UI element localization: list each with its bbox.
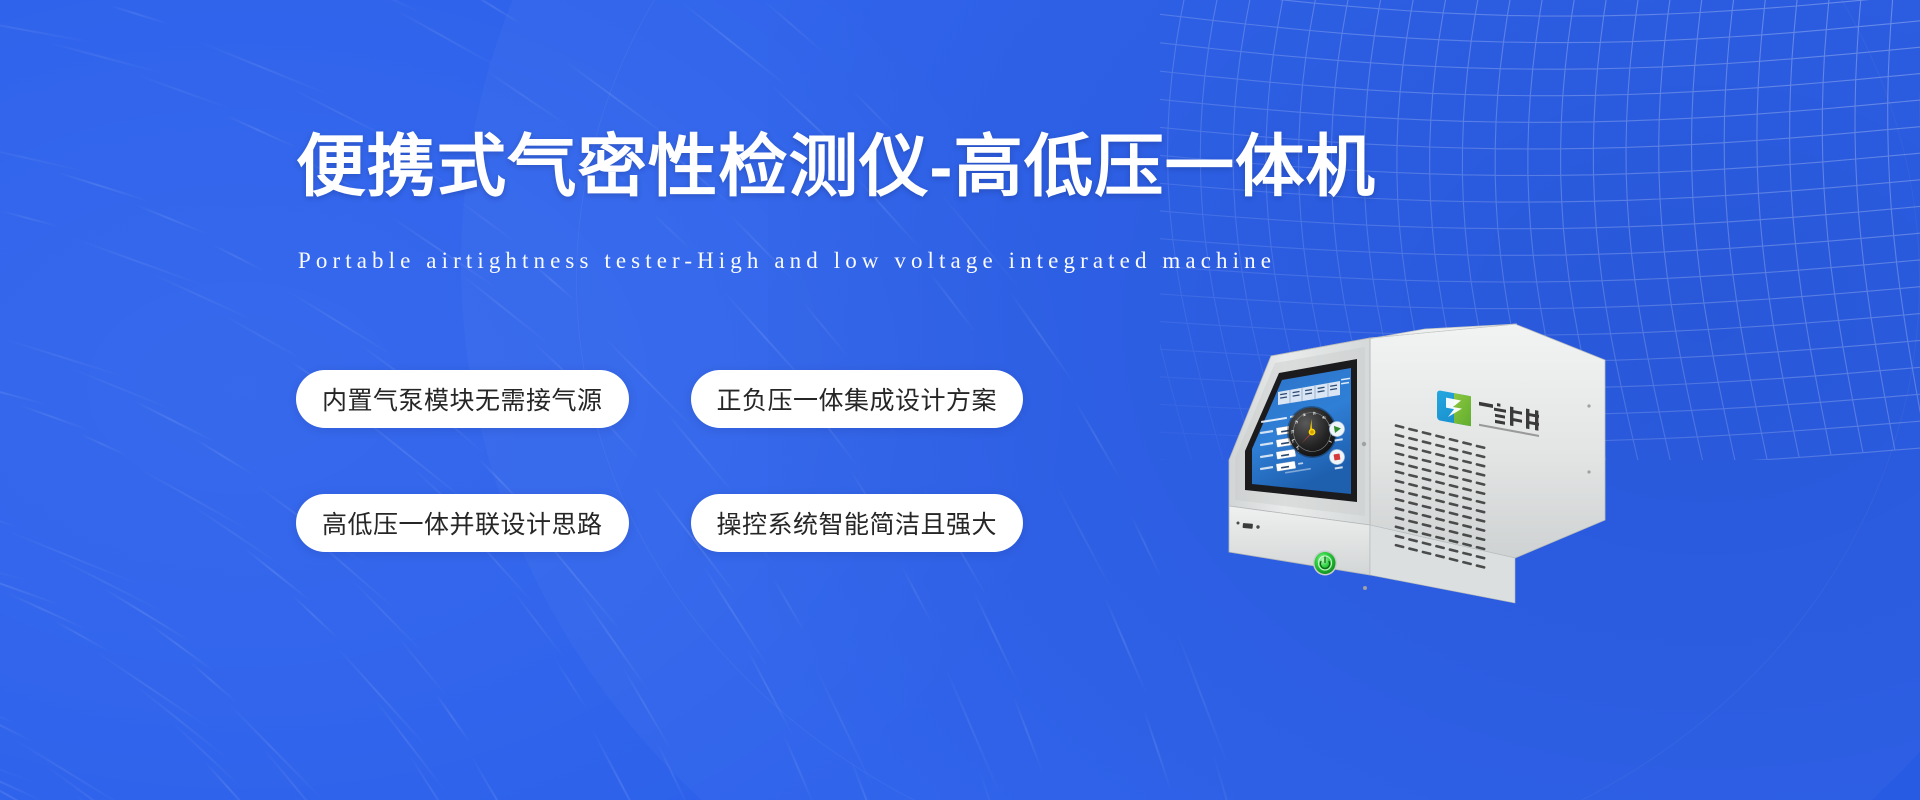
stop-icon xyxy=(1334,454,1341,461)
feature-pill-2[interactable]: 正负压一体集成设计方案 xyxy=(691,370,1024,428)
product-device-image: 0 5 10 15 20 25 30 35 40 xyxy=(1185,320,1625,650)
page-title: 便携式气密性检测仪-高低压一体机 xyxy=(296,128,1376,206)
device-illustration: 0 5 10 15 20 25 30 35 40 xyxy=(1185,320,1625,650)
device-body-side xyxy=(1370,324,1605,558)
page-subtitle: Portable airtightness tester-High and lo… xyxy=(298,248,1276,274)
device-power-button[interactable] xyxy=(1313,551,1337,576)
feature-pill-1[interactable]: 内置气泵模块无需接气源 xyxy=(296,370,629,428)
feature-pill-3[interactable]: 高低压一体并联设计思路 xyxy=(296,494,629,552)
feature-pill-row-1: 内置气泵模块无需接气源 正负压一体集成设计方案 xyxy=(296,370,1116,428)
feature-pill-4[interactable]: 操控系统智能简洁且强大 xyxy=(691,494,1024,552)
feature-pill-row-2: 高低压一体并联设计思路 操控系统智能简洁且强大 xyxy=(296,494,1116,552)
feature-pill-group: 内置气泵模块无需接气源 正负压一体集成设计方案 高低压一体并联设计思路 操控系统… xyxy=(296,370,1116,618)
